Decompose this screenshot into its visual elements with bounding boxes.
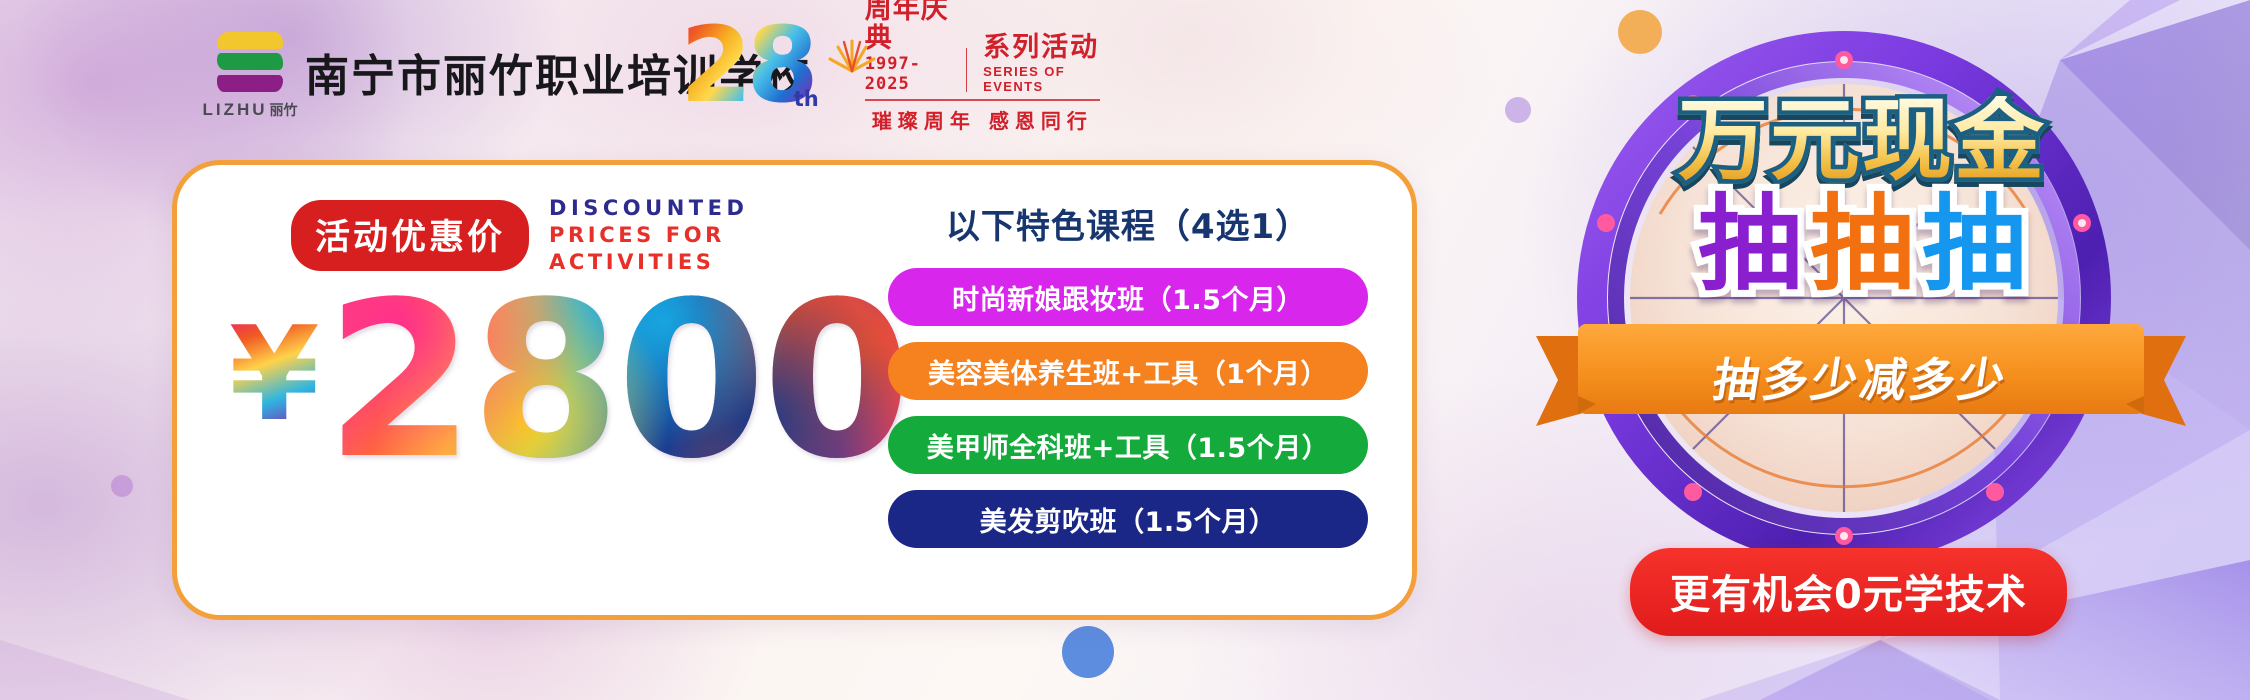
- anniversary-left-col: 周年庆典 1997-2025: [865, 0, 954, 94]
- sparkle-icon: [826, 25, 878, 77]
- banner-header: LIZHU丽竹 南宁市丽竹职业培训学校 28 th: [0, 0, 1100, 140]
- school-logo: LIZHU丽竹: [200, 32, 300, 120]
- course-option-3[interactable]: 美甲师全科班+工具（1.5个月）: [888, 416, 1368, 474]
- price-section: 活动优惠价 DISCOUNTED PRICES FOR ACTIVITIES ¥…: [209, 195, 869, 479]
- course-option-4[interactable]: 美发剪吹班（1.5个月）: [888, 490, 1368, 548]
- course-option-4-label: 美发剪吹班（1.5个月）: [980, 500, 1277, 539]
- logo-chinese-label: 丽竹: [270, 102, 298, 118]
- logo-stripe-green: [217, 53, 283, 70]
- anniversary-years: 1997-2025: [865, 54, 954, 94]
- anniversary-rule: [865, 99, 1100, 101]
- lottery-draw-word: 抽 抽 抽: [1548, 190, 2176, 299]
- course-option-1-label: 时尚新娘跟妆班（1.5个月）: [952, 278, 1304, 317]
- logo-stripe-purple: [217, 75, 283, 92]
- anniversary-text-block: 周年庆典 1997-2025 系列活动 SERIES OF EVENTS 璀璨周…: [865, 0, 1100, 134]
- draw-char-1: 抽: [1698, 190, 1802, 299]
- price-value-row: ¥ 2800: [209, 282, 869, 480]
- anniversary-series-title: 系列活动: [983, 34, 1100, 62]
- anniversary-badge: 28 th: [680, 10, 1100, 120]
- logo-stripe-yellow: [217, 32, 283, 49]
- anniversary-ordinal: th: [794, 87, 819, 111]
- anniversary-slogan: 璀璨周年 感恩同行: [865, 105, 1100, 134]
- promo-banner: LIZHU丽竹 南宁市丽竹职业培训学校 28 th: [0, 0, 2250, 700]
- draw-char-3: 抽: [1922, 190, 2026, 299]
- course-option-1[interactable]: 时尚新娘跟妆班（1.5个月）: [888, 268, 1368, 326]
- lottery-ribbon-text: 抽多少减多少: [1531, 344, 2191, 410]
- anniversary-series-subtitle: SERIES OF EVENTS: [983, 64, 1100, 94]
- draw-char-2: 抽: [1810, 190, 1914, 299]
- anniversary-divider: [966, 48, 968, 92]
- course-option-2-label: 美容美体养生班+工具（1个月）: [928, 352, 1328, 391]
- anniversary-right-col: 系列活动 SERIES OF EVENTS: [983, 34, 1100, 94]
- anniversary-number-block: 28 th: [680, 17, 813, 113]
- anniversary-cn-title: 周年庆典: [865, 0, 954, 53]
- course-option-3-label: 美甲师全科班+工具（1.5个月）: [927, 426, 1329, 465]
- discount-english-line1: DISCOUNTED: [549, 195, 869, 222]
- lottery-promo: 万元现金 万元现金 抽 抽 抽 抽: [1490, 0, 2250, 700]
- anniversary-headline-row: 周年庆典 1997-2025 系列活动 SERIES OF EVENTS: [865, 0, 1100, 94]
- course-list-section: 以下特色课程（4选1） 时尚新娘跟妆班（1.5个月） 美容美体养生班+工具（1个…: [888, 199, 1368, 564]
- course-option-2[interactable]: 美容美体养生班+工具（1个月）: [888, 342, 1368, 400]
- zero-cost-badge: 更有机会0元学技术: [1630, 548, 2067, 636]
- lottery-headline: 万元现金: [1552, 96, 2172, 186]
- price-amount: 2800: [325, 282, 907, 480]
- offer-card: 活动优惠价 DISCOUNTED PRICES FOR ACTIVITIES ¥…: [172, 160, 1417, 620]
- lizhu-logo-mark-icon: [217, 32, 283, 94]
- lottery-ribbon: 抽多少减多少: [1536, 318, 2186, 430]
- logo-latin-label: LIZHU: [202, 100, 267, 119]
- logo-latin-text: LIZHU丽竹: [202, 100, 297, 120]
- course-list-title: 以下特色课程（4选1）: [888, 199, 1368, 248]
- currency-symbol: ¥: [229, 309, 319, 439]
